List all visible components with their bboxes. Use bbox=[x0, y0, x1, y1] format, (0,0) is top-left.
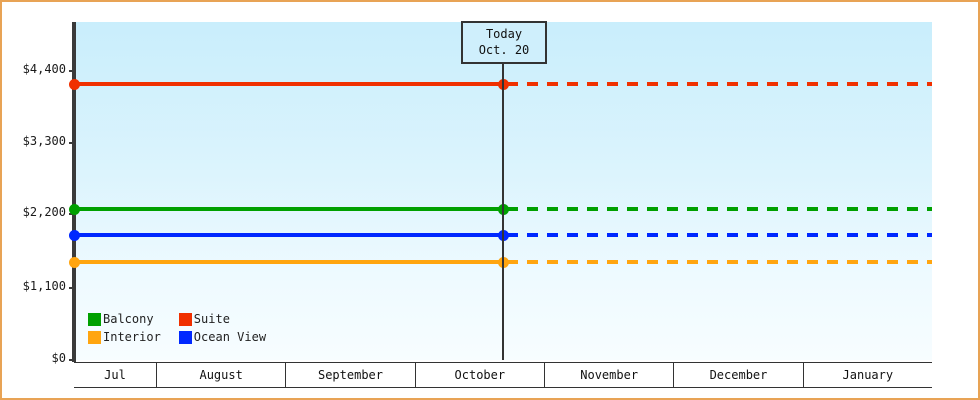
legend-swatch-icon bbox=[179, 313, 192, 326]
today-vertical-line bbox=[502, 22, 504, 360]
legend-label: Suite bbox=[194, 312, 230, 326]
x-axis-month-september[interactable]: September bbox=[286, 363, 415, 387]
x-axis-month-november[interactable]: November bbox=[545, 363, 674, 387]
series-solid-segment bbox=[74, 82, 504, 86]
y-axis-tick-label: $1,100 bbox=[23, 279, 66, 293]
legend-item-ocean-view[interactable]: Ocean View bbox=[179, 330, 266, 344]
x-axis-month-october[interactable]: October bbox=[416, 363, 545, 387]
series-start-marker bbox=[69, 79, 80, 90]
pricing-trend-chart: $4,400 $3,300 $2,200 $1,100 $0 bbox=[0, 0, 980, 400]
x-axis-month-august[interactable]: August bbox=[157, 363, 286, 387]
y-axis-tick-label: $4,400 bbox=[23, 62, 66, 76]
series-solid-segment bbox=[74, 260, 504, 264]
chart-legend: Balcony Suite Interior Ocean View bbox=[88, 312, 266, 344]
y-axis-tick-mark bbox=[69, 359, 76, 361]
legend-label: Interior bbox=[103, 330, 161, 344]
legend-label: Ocean View bbox=[194, 330, 266, 344]
x-axis-month-january[interactable]: January bbox=[804, 363, 932, 387]
y-axis-tick-label: $2,200 bbox=[23, 205, 66, 219]
legend-item-balcony[interactable]: Balcony bbox=[88, 312, 161, 326]
y-axis-tick-mark bbox=[69, 70, 76, 72]
x-axis-month-jul[interactable]: Jul bbox=[74, 363, 157, 387]
legend-label: Balcony bbox=[103, 312, 154, 326]
y-axis-tick-label: $3,300 bbox=[23, 134, 66, 148]
today-callout-line2: Oct. 20 bbox=[473, 42, 535, 58]
plot-area bbox=[76, 22, 932, 360]
series-solid-segment bbox=[74, 233, 504, 237]
today-callout-line1: Today bbox=[473, 26, 535, 42]
series-start-marker bbox=[69, 230, 80, 241]
x-axis-month-bar: Jul August September October November De… bbox=[74, 362, 932, 388]
today-callout: Today Oct. 20 bbox=[461, 21, 547, 64]
series-forecast-segment bbox=[507, 260, 932, 264]
series-solid-segment bbox=[74, 207, 504, 211]
x-axis-month-december[interactable]: December bbox=[674, 363, 803, 387]
series-forecast-segment bbox=[507, 207, 932, 211]
y-axis-tick-label: $0 bbox=[52, 351, 66, 365]
legend-swatch-icon bbox=[88, 331, 101, 344]
y-axis-tick-mark bbox=[69, 287, 76, 289]
series-start-marker bbox=[69, 257, 80, 268]
series-start-marker bbox=[69, 204, 80, 215]
legend-swatch-icon bbox=[179, 331, 192, 344]
series-forecast-segment bbox=[507, 82, 932, 86]
y-axis-line bbox=[72, 22, 76, 362]
legend-item-suite[interactable]: Suite bbox=[179, 312, 266, 326]
series-forecast-segment bbox=[507, 233, 932, 237]
y-axis-tick-mark bbox=[69, 142, 76, 144]
legend-swatch-icon bbox=[88, 313, 101, 326]
legend-item-interior[interactable]: Interior bbox=[88, 330, 161, 344]
